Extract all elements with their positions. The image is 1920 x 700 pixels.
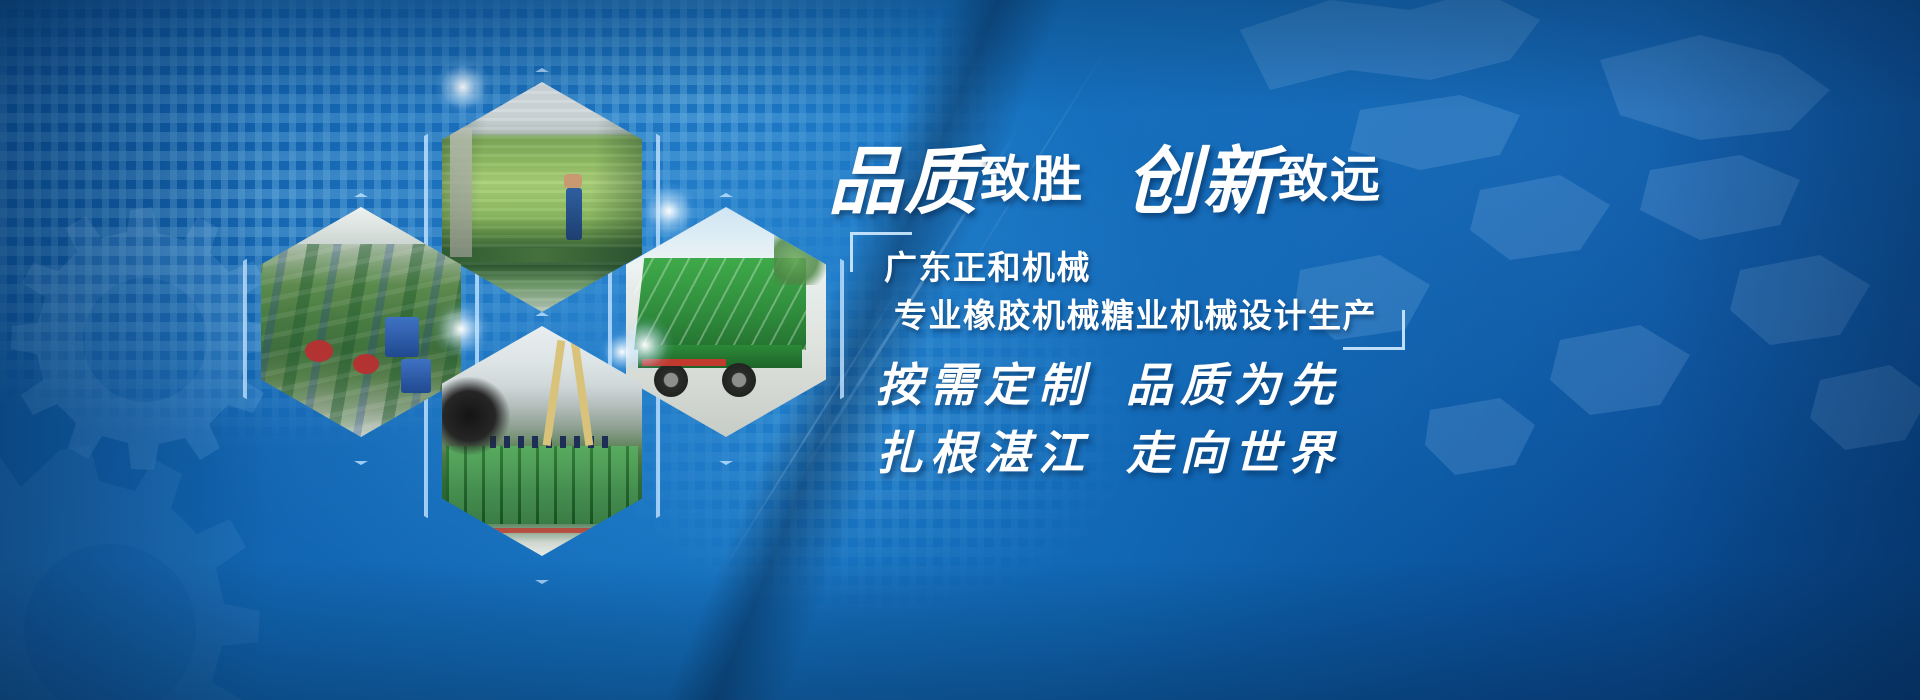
- corner-bracket-bottom-right: [1343, 310, 1405, 350]
- slogan-1-left: 按需定制: [876, 360, 1092, 411]
- hexagon-photo-drum: [442, 82, 642, 312]
- headline-part2-big: 创新: [1126, 142, 1278, 224]
- sparkle-icon: [434, 58, 492, 116]
- slogan-row-1: 按需定制品质为先: [876, 352, 1342, 420]
- headline: 品质致胜创新致远: [828, 122, 1382, 229]
- subtitle-line-1: 广东正和机械: [884, 244, 1377, 292]
- promo-banner: 品质致胜创新致远 广东正和机械 专业橡胶机械糖业机械设计生产 按需定制品质为先 …: [0, 0, 1920, 700]
- slogan-2-left: 扎根湛江: [876, 428, 1092, 479]
- hexagon-photo-conveyor: [442, 326, 642, 556]
- hexagon-photo-cluster: [0, 0, 900, 700]
- corner-bracket-top-left: [850, 232, 912, 272]
- headline-part1-small: 致胜: [980, 152, 1084, 208]
- banner-text-column: 品质致胜创新致远 广东正和机械 专业橡胶机械糖业机械设计生产 按需定制品质为先 …: [828, 0, 1920, 700]
- slogan-list: 按需定制品质为先 扎根湛江走向世界: [876, 352, 1342, 488]
- headline-part2-small: 致远: [1278, 152, 1382, 208]
- subtitle-block: 广东正和机械 专业橡胶机械糖业机械设计生产: [850, 232, 1405, 350]
- slogan-2-right: 走向世界: [1126, 428, 1342, 479]
- slogan-row-2: 扎根湛江走向世界: [876, 420, 1342, 488]
- hexagon-photo-trailer: [626, 207, 826, 437]
- hexagon-photo-mill-line: [261, 207, 461, 437]
- subtitle-line-2: 专业橡胶机械糖业机械设计生产: [884, 292, 1377, 340]
- slogan-1-right: 品质为先: [1126, 360, 1342, 411]
- headline-part1-big: 品质: [828, 142, 980, 224]
